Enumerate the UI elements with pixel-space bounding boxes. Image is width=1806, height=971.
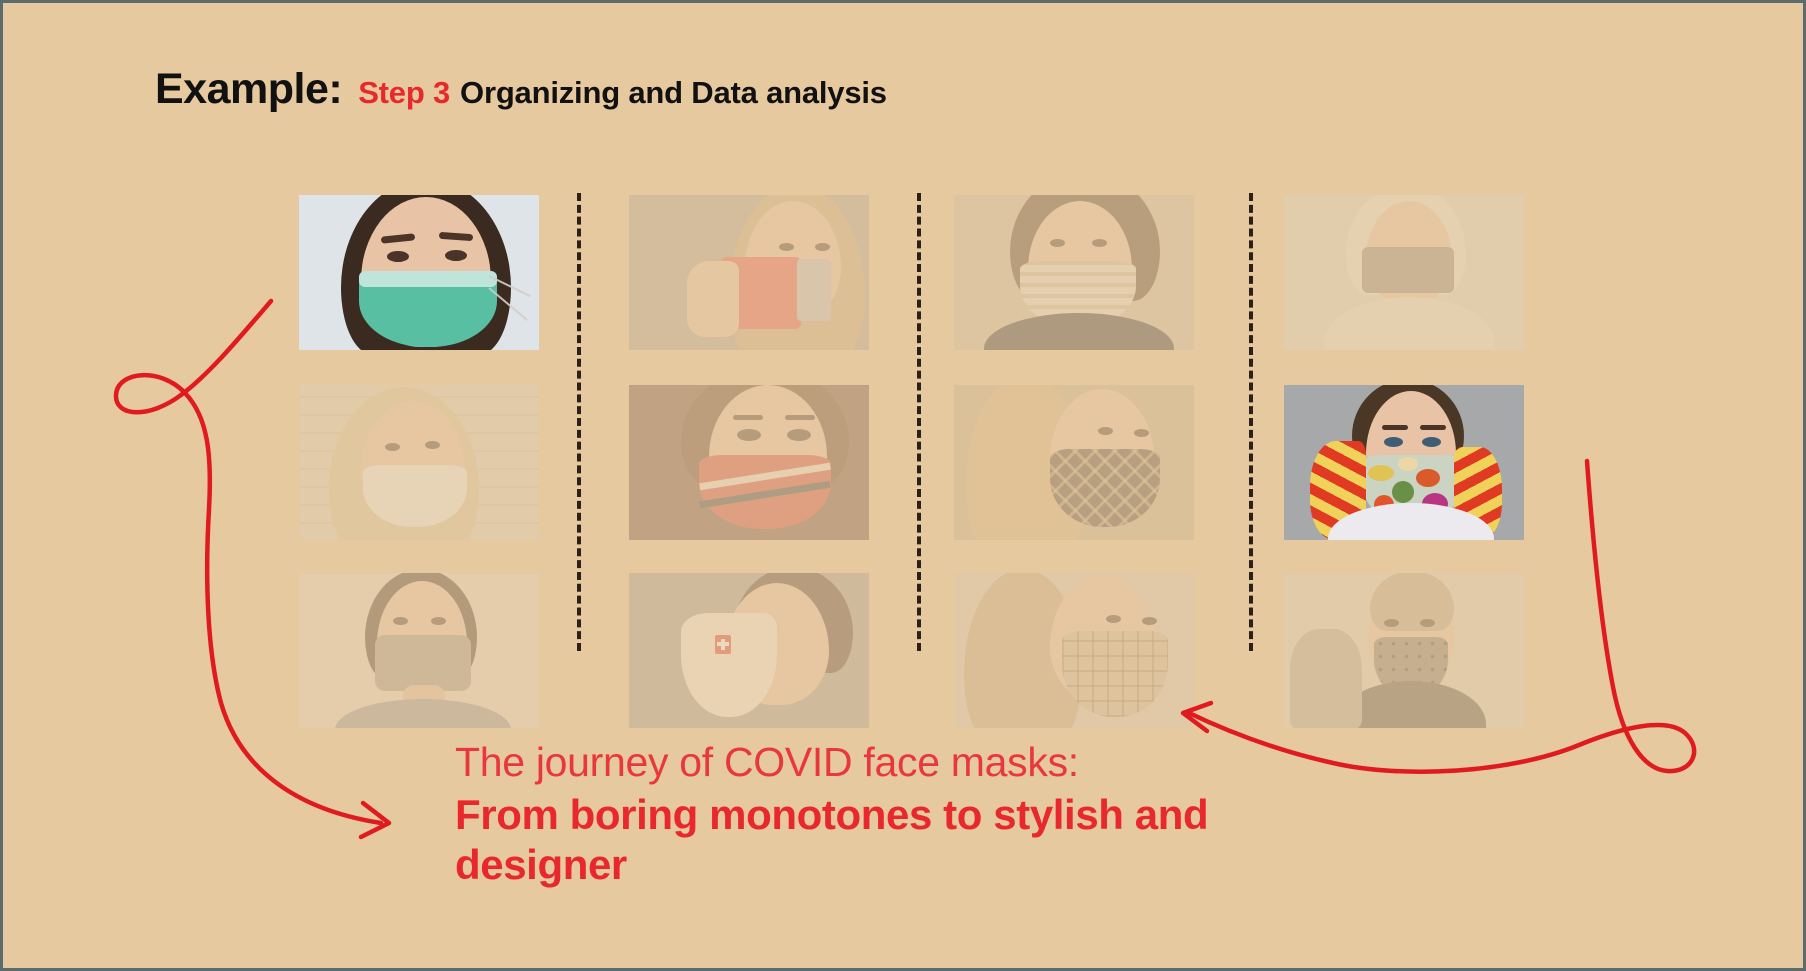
column-divider-2 <box>917 193 921 651</box>
thumb-woman-holding-red-mask[interactable] <box>629 195 869 350</box>
slide-canvas: Example: Step 3 Organizing and Data anal… <box>0 0 1806 971</box>
thumb-woman-swiss-cross-mask[interactable] <box>629 573 869 728</box>
caption-line-2: From boring monotones to stylish and des… <box>455 790 1325 891</box>
thumb-woman-logo-print-mask[interactable] <box>954 573 1194 728</box>
page-title: Example: Step 3 Organizing and Data anal… <box>155 65 887 114</box>
gallery-caption: The journey of COVID face masks: From bo… <box>455 741 1325 890</box>
thumb-model-studded-mask[interactable] <box>1284 573 1524 728</box>
caption-line-1: The journey of COVID face masks: <box>455 741 1325 784</box>
thumb-woman-red-striped-mask[interactable] <box>629 385 869 540</box>
column-divider-3 <box>1249 193 1253 651</box>
thumb-woman-beige-fabric-mask[interactable] <box>299 573 539 728</box>
thumb-woman-plaid-mask[interactable] <box>954 195 1194 350</box>
title-main-text: Example: <box>155 65 342 114</box>
thumb-woman-green-surgical-mask[interactable] <box>299 195 539 350</box>
mask-image-gallery <box>299 195 1549 730</box>
column-divider-1 <box>577 193 581 651</box>
title-step-label: Step 3 <box>358 75 450 111</box>
title-subject-text: Organizing and Data analysis <box>460 75 887 111</box>
thumb-woman-monogram-mask[interactable] <box>954 385 1194 540</box>
thumb-model-sheer-hood-mask[interactable] <box>1284 195 1524 350</box>
thumb-model-floral-scarf-mask[interactable] <box>1284 385 1524 540</box>
thumb-woman-white-mask-brick-wall[interactable] <box>299 385 539 540</box>
